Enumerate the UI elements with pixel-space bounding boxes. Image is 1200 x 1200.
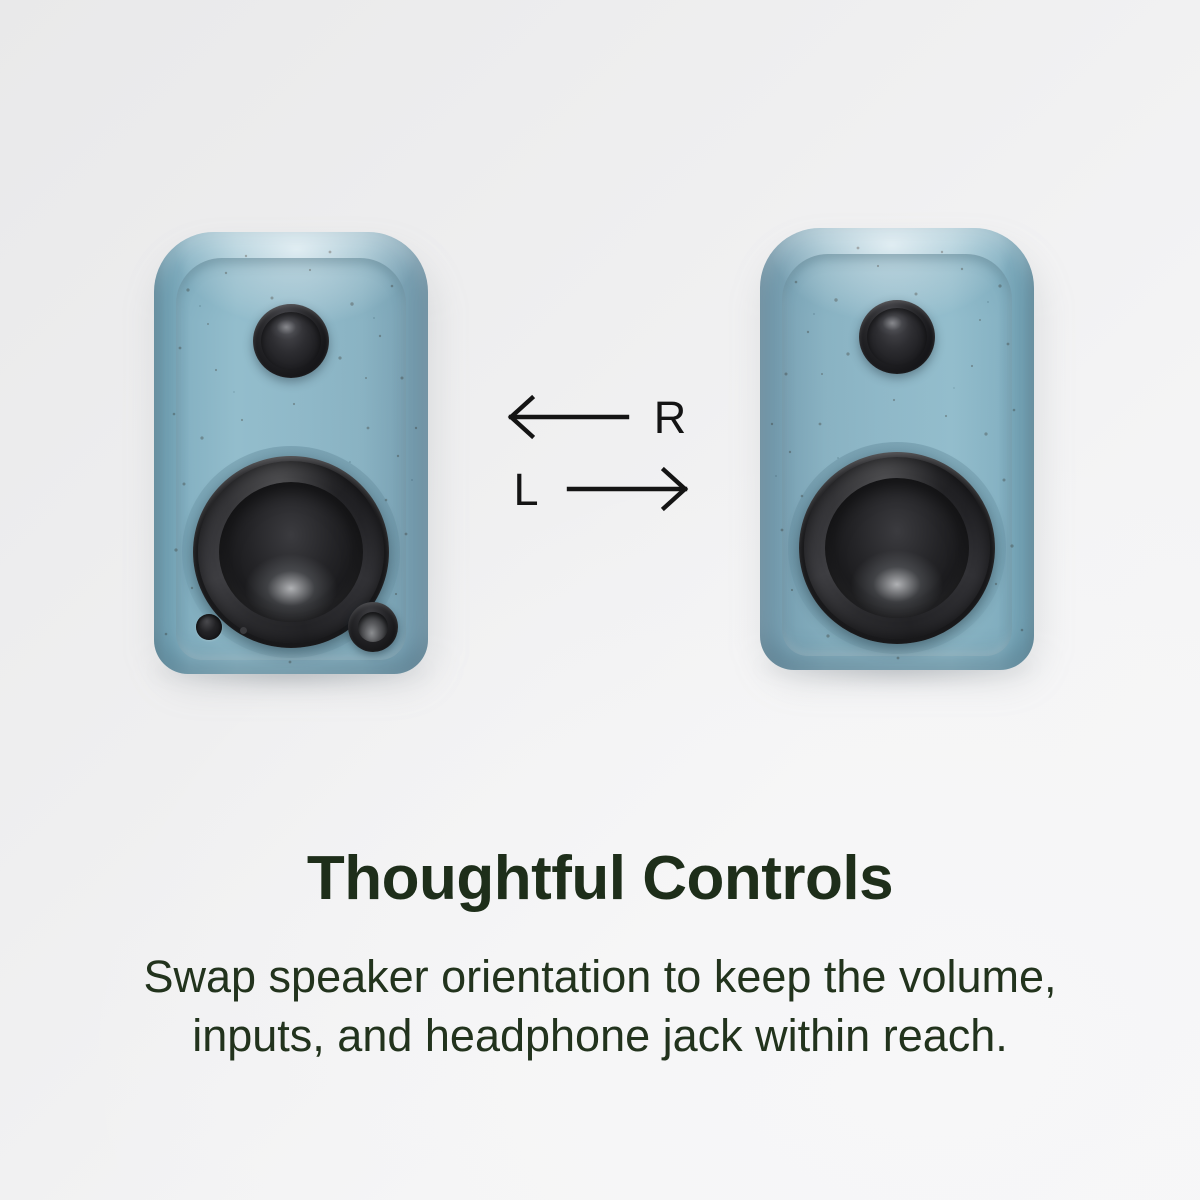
speaker-cabinet <box>154 232 428 674</box>
subcopy-line-2: inputs, and headphone jack within reach. <box>52 1006 1148 1065</box>
volume-knob[interactable] <box>348 602 398 652</box>
volume-knob-cap <box>358 612 388 642</box>
swap-row-left-channel: L <box>505 464 695 514</box>
tweeter-driver <box>859 300 935 374</box>
tweeter-dome <box>261 312 321 370</box>
woofer-driver <box>799 452 995 644</box>
swap-orientation-indicator: R L <box>505 392 695 522</box>
channel-label-left: L <box>505 467 547 512</box>
channel-label-right: R <box>649 395 691 440</box>
woofer-cone <box>825 478 969 618</box>
subcopy-line-1: Swap speaker orientation to keep the vol… <box>52 947 1148 1006</box>
subcopy: Swap speaker orientation to keep the vol… <box>0 947 1200 1066</box>
copy-block: Thoughtful Controls Swap speaker orienta… <box>0 846 1200 1066</box>
product-feature-card: R L Thoughtful Controls Swap speaker ori… <box>0 0 1200 1200</box>
headline: Thoughtful Controls <box>0 846 1200 913</box>
tweeter-driver <box>253 304 329 378</box>
arrow-right-icon <box>563 466 691 512</box>
woofer-cone <box>219 482 363 622</box>
headphone-jack-port[interactable] <box>196 614 222 640</box>
tweeter-dome <box>867 308 927 366</box>
product-scene: R L <box>0 0 1200 760</box>
swap-row-right-channel: R <box>505 392 695 442</box>
speaker-right[interactable] <box>752 228 1042 678</box>
speaker-left[interactable] <box>146 232 436 682</box>
status-led-indicator <box>240 627 247 634</box>
arrow-left-icon <box>505 394 633 440</box>
speaker-cabinet <box>760 228 1034 670</box>
